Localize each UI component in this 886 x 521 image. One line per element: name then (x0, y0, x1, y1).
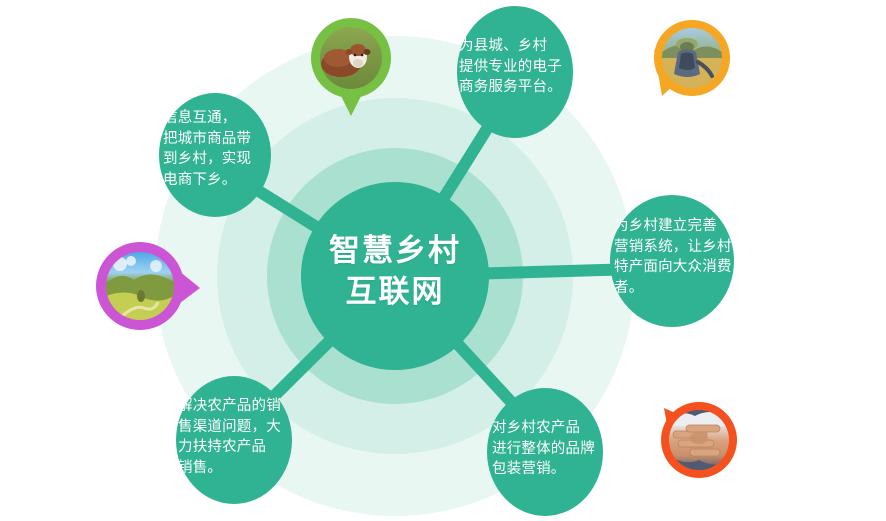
center-hub-circle[interactable] (301, 182, 489, 370)
cow-photo (320, 27, 382, 89)
landscape-photo (106, 252, 174, 320)
node-bubble-5[interactable] (487, 388, 603, 516)
node-bubble-4[interactable] (176, 376, 292, 504)
infographic-canvas: 智慧乡村 互联网 信息互通， 把城市商品带 到乡村，实现 电商下乡。 为县城、乡… (0, 0, 886, 521)
mind-map-diagram (0, 0, 886, 521)
node-bubble-3[interactable] (610, 195, 734, 327)
farmer-photo (662, 28, 722, 88)
photo-marker-farmer[interactable] (654, 20, 730, 96)
photo-marker-hands[interactable] (661, 402, 737, 478)
node-bubble-1[interactable] (159, 93, 271, 217)
node-bubble-2[interactable] (457, 6, 573, 138)
